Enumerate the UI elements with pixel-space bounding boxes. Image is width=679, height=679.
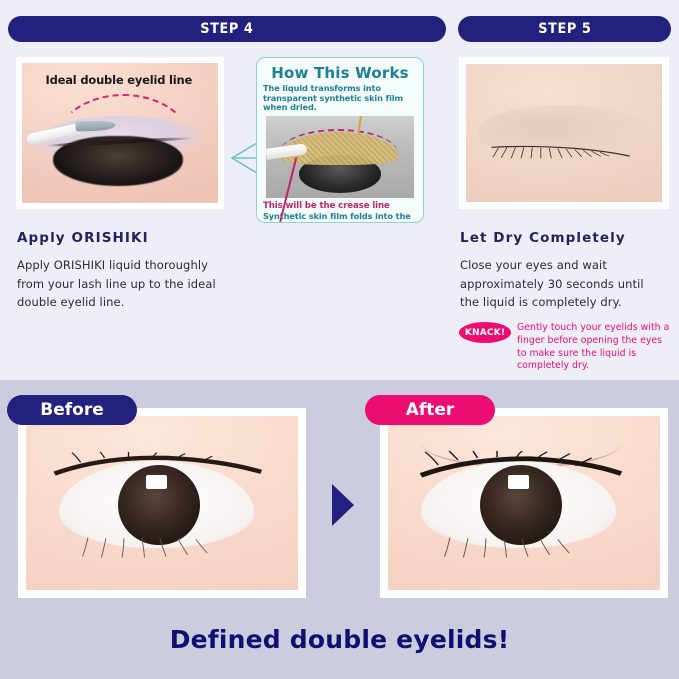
after-lower-lashes: [432, 534, 612, 562]
closed-eye-lashes: [490, 144, 631, 161]
step-4-header: STEP 4: [8, 16, 446, 42]
how-this-works-subtitle: The liquid transforms into transparent s…: [263, 84, 417, 113]
step-4-photo-frame: Ideal double eyelid line: [16, 57, 224, 209]
step-5-closed-eye-photo: [466, 64, 662, 202]
after-upper-lashes: [410, 451, 628, 479]
after-eye-photo: [388, 416, 660, 590]
how-this-works-panel: How This Works The liquid transforms int…: [256, 57, 424, 223]
step-4-column: STEP 4: [8, 16, 446, 42]
step-4-eye-photo: Ideal double eyelid line: [22, 63, 218, 203]
before-label: Before: [7, 395, 137, 425]
crease-line-title: This will be the crease line: [263, 201, 417, 211]
before-after-section: Before After: [0, 380, 679, 679]
step-4-title: Apply ORISHIKI: [17, 230, 149, 246]
knack-tip-text: Gently touch your eyelids with a finger …: [517, 322, 674, 373]
before-eye-photo: [26, 416, 298, 590]
headline-text: Defined double eyelids!: [0, 625, 679, 654]
before-photo-frame: [18, 408, 306, 598]
ideal-line-caption: Ideal double eyelid line: [46, 73, 193, 87]
step-5-header: STEP 5: [458, 16, 671, 42]
step-5-body: Close your eyes and wait approximately 3…: [460, 256, 660, 312]
transition-arrow-icon: [332, 484, 354, 526]
step-5-column: STEP 5: [458, 16, 671, 42]
knack-tip-row: KNACK! Gently touch your eyelids with a …: [459, 322, 674, 373]
before-lower-lashes: [70, 534, 250, 562]
step-4-header-label: STEP 4: [200, 21, 253, 37]
after-label: After: [365, 395, 495, 425]
product-instruction-page: STEP 4 Ideal double eyelid line: [0, 0, 679, 679]
knack-badge: KNACK!: [459, 322, 511, 343]
step-5-photo-frame: [459, 57, 669, 209]
crease-line-body: Synthetic skin film folds into the upper…: [263, 212, 417, 223]
before-upper-lashes: [48, 451, 266, 479]
applicator-tip: [76, 120, 116, 131]
step-5-header-label: STEP 5: [538, 21, 591, 37]
steps-section: STEP 4 Ideal double eyelid line: [0, 0, 679, 380]
after-photo-frame: [380, 408, 668, 598]
step-4-body: Apply ORISHIKI liquid thoroughly from yo…: [17, 256, 232, 312]
step-5-title: Let Dry Completely: [460, 230, 626, 246]
how-this-works-title: How This Works: [263, 64, 417, 82]
